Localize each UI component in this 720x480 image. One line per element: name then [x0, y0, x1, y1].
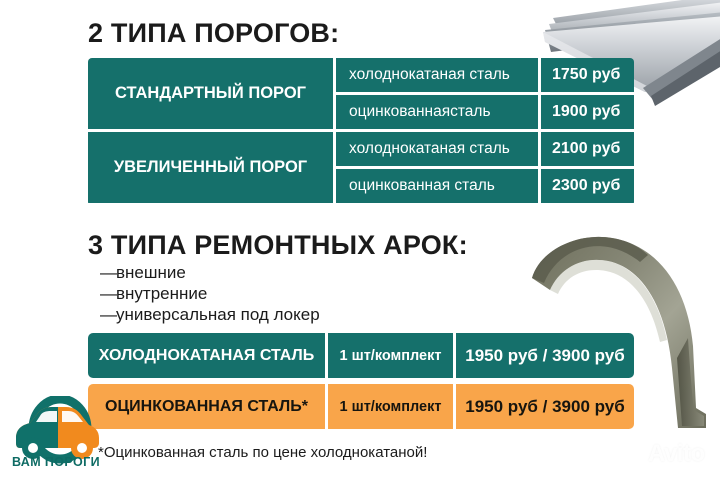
list-item: —универсальная под локер [100, 304, 320, 325]
heading-sills: 2 ТИПА ПОРОГОВ: [88, 18, 339, 49]
avito-watermark: Avito [628, 440, 705, 468]
material-label: холоднокатаная сталь [336, 132, 538, 166]
list-item-label: внешние [116, 263, 186, 282]
material-label: холоднокатаная сталь [336, 58, 538, 92]
material-label: ХОЛОДНОКАТАНАЯ СТАЛЬ [88, 333, 325, 378]
price-label: 1950 руб / 3900 руб [456, 333, 634, 378]
price-label: 2300 руб [541, 169, 634, 203]
table-row: холоднокатаная сталь 1750 руб [336, 58, 634, 92]
quantity-label: 1 шт/комплект [328, 333, 453, 378]
table-row: ОЦИНКОВАННАЯ СТАЛЬ* 1 шт/комплект 1950 р… [88, 384, 634, 429]
heading-arches: 3 ТИПА РЕМОНТНЫХ АРОК: [88, 230, 468, 261]
avito-watermark-label: Avito [648, 440, 705, 468]
table-row: холоднокатаная сталь 2100 руб [336, 132, 634, 166]
list-item: —внешние [100, 262, 320, 283]
price-label: 1900 руб [541, 95, 634, 129]
logo-text: ВАМ ПОРОГИ [9, 455, 103, 469]
bullet-dash: — [100, 262, 116, 283]
table-row-group: СТАНДАРТНЫЙ ПОРОГ холоднокатаная сталь 1… [88, 58, 634, 129]
sill-type-label: СТАНДАРТНЫЙ ПОРОГ [88, 58, 333, 129]
price-label: 1950 руб / 3900 руб [456, 384, 634, 429]
footnote: *Оцинкованная сталь по цене холоднокатан… [98, 444, 427, 461]
material-label: оцинкованная сталь [336, 169, 538, 203]
bullet-dash: — [100, 283, 116, 304]
material-label: ОЦИНКОВАННАЯ СТАЛЬ* [88, 384, 325, 429]
table-row: оцинкованнаясталь 1900 руб [336, 95, 634, 129]
promo-banner: 2 ТИПА ПОРОГОВ: СТАНДАРТНЫЙ ПОРОГ холодн… [0, 0, 720, 480]
sills-price-table: СТАНДАРТНЫЙ ПОРОГ холоднокатаная сталь 1… [88, 58, 634, 206]
arch-types-list: —внешние —внутренние —универсальная под … [100, 262, 320, 325]
table-row: оцинкованная сталь 2300 руб [336, 169, 634, 203]
quantity-label: 1 шт/комплект [328, 384, 453, 429]
price-label: 2100 руб [541, 132, 634, 166]
sill-type-label: УВЕЛИЧЕННЫЙ ПОРОГ [88, 132, 333, 203]
material-label: оцинкованнаясталь [336, 95, 538, 129]
list-item-label: универсальная под локер [116, 305, 320, 324]
arches-price-table: ХОЛОДНОКАТАНАЯ СТАЛЬ 1 шт/комплект 1950 … [88, 333, 634, 429]
avito-ring-icon [628, 446, 645, 463]
list-item-label: внутренние [116, 284, 207, 303]
list-item: —внутренние [100, 283, 320, 304]
bullet-dash: — [100, 304, 116, 325]
table-row-group: УВЕЛИЧЕННЫЙ ПОРОГ холоднокатаная сталь 2… [88, 132, 634, 203]
table-row: ХОЛОДНОКАТАНАЯ СТАЛЬ 1 шт/комплект 1950 … [88, 333, 634, 378]
price-label: 1750 руб [541, 58, 634, 92]
